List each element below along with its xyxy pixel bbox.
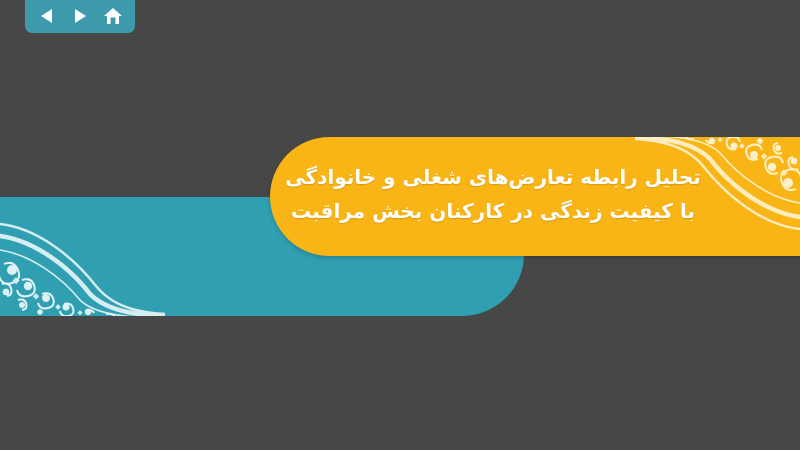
next-slide-button[interactable]: [67, 4, 93, 28]
triangle-left-icon: [38, 7, 56, 25]
previous-slide-button[interactable]: [34, 4, 60, 28]
arabesque-corner-ornament-yellow: [635, 137, 800, 247]
presentation-slide: تحلیل رابطه تعارض‌های شغلی و خانوادگی با…: [0, 0, 800, 450]
arabesque-corner-ornament-teal: [0, 206, 165, 316]
yellow-banner-panel: [270, 137, 800, 256]
home-button[interactable]: [100, 4, 126, 28]
triangle-right-icon: [71, 7, 89, 25]
home-icon: [103, 7, 123, 26]
slide-navigation-bar[interactable]: [25, 0, 135, 33]
